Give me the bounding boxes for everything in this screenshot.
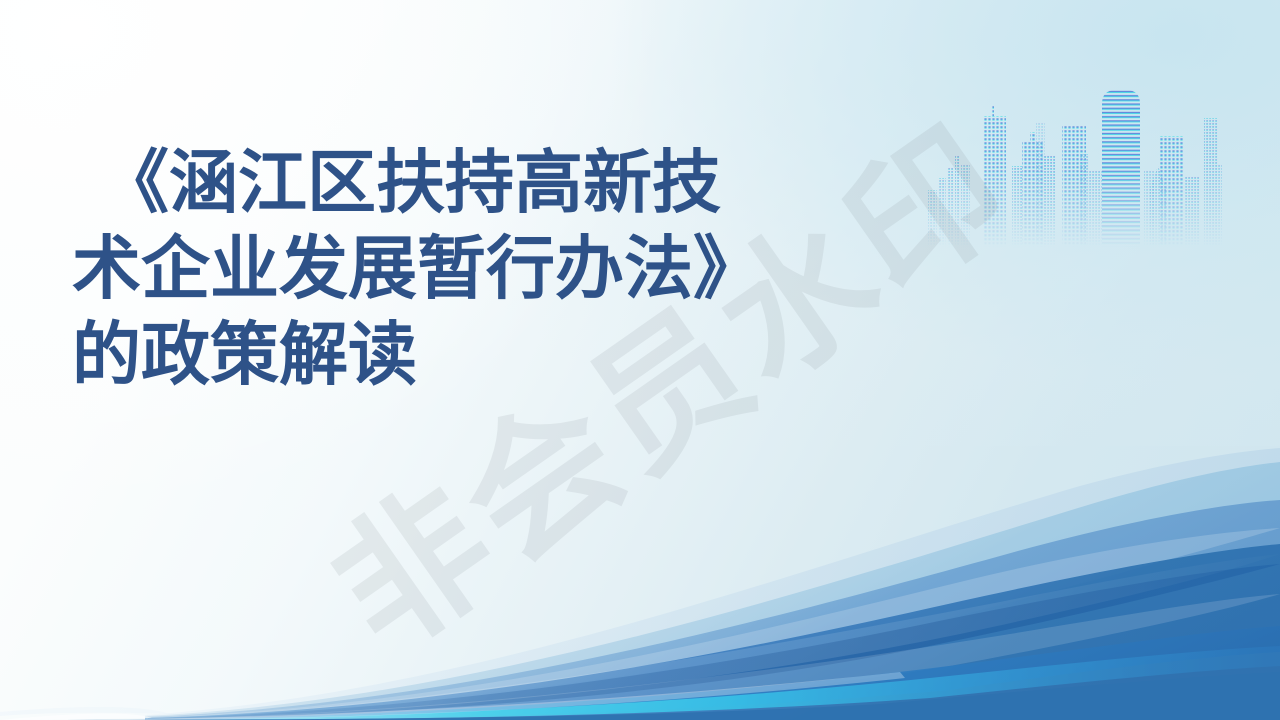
slide-title: 《涵江区扶持高新技 术企业发展暂行办法》 的政策解读	[0, 140, 820, 398]
title-line-1: 《涵江区扶持高新技	[0, 140, 820, 226]
title-line-2: 术企业发展暂行办法》	[0, 226, 820, 312]
presentation-slide: 非会员水印 《涵江区扶持高新技 术企业发展暂行办法》 的政策解读	[0, 0, 1280, 720]
city-skyline-icon	[912, 78, 1222, 248]
title-line-3: 的政策解读	[0, 312, 820, 398]
